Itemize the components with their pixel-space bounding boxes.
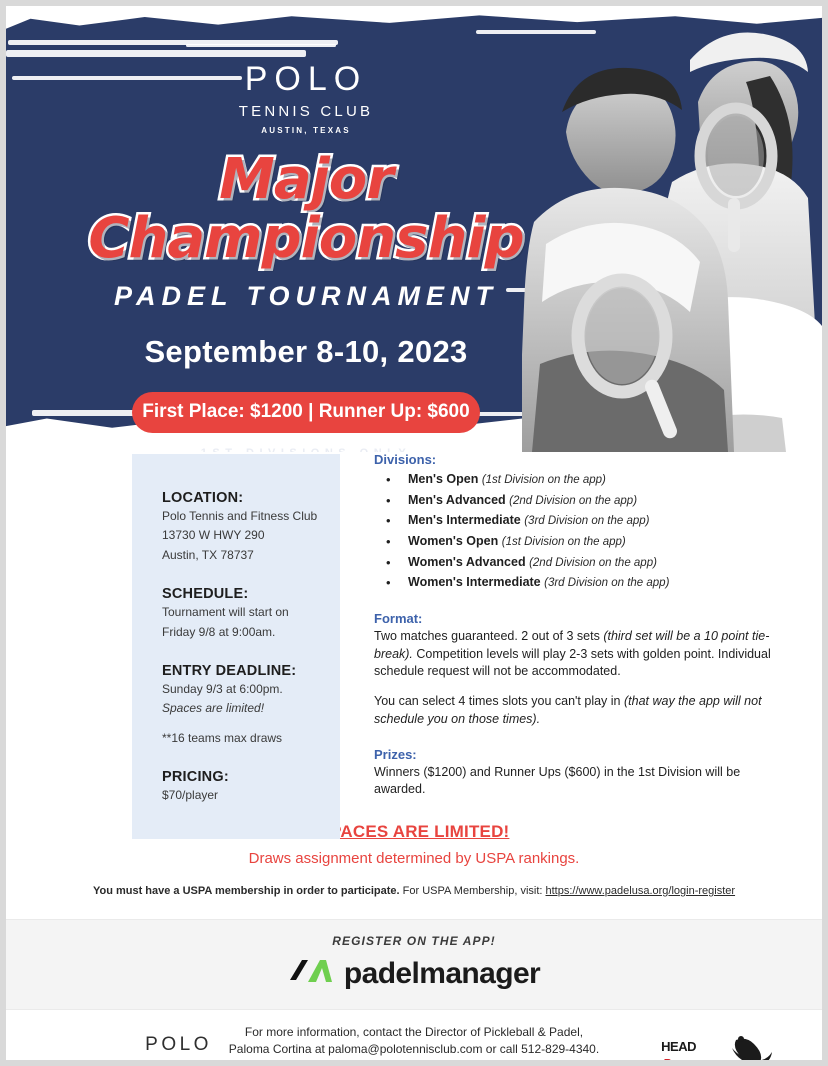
format-paragraph-2: You can select 4 times slots you can't p… xyxy=(374,693,774,729)
list-item: Women's Advanced (2nd Division on the ap… xyxy=(378,552,774,573)
details-section: LOCATION: Polo Tennis and Fitness Club 1… xyxy=(6,452,822,897)
right-column: Divisions: Men's Open (1st Division on t… xyxy=(374,452,774,799)
info-box: LOCATION: Polo Tennis and Fitness Club 1… xyxy=(132,454,340,839)
event-title: Major Championship xyxy=(6,151,606,269)
format-section: Format: Two matches guaranteed. 2 out of… xyxy=(374,611,774,729)
club-logo-header: POLO TENNIS CLUB AUSTIN, TEXAS xyxy=(6,6,606,135)
uspa-membership-line: You must have a USPA membership in order… xyxy=(6,885,822,897)
event-subtitle: PADEL TOURNAMENT xyxy=(6,281,606,312)
head-brand-name: HEAD xyxy=(661,1039,696,1054)
division-note: (2nd Division on the app) xyxy=(529,557,657,569)
event-date: September 8-10, 2023 xyxy=(6,334,606,370)
division-note: (3rd Division on the app) xyxy=(544,577,669,589)
register-band: REGISTER ON THE APP! padelmanager xyxy=(6,919,822,1010)
uspa-requirement-text: You must have a USPA membership in order… xyxy=(93,885,400,897)
pricing-heading: PRICING: xyxy=(162,769,318,785)
entry-deadline-note: **16 teams max draws xyxy=(162,730,318,747)
format-paragraph-1: Two matches guaranteed. 2 out of 3 sets … xyxy=(374,628,774,681)
divisions-only-note: 1ST DIVISIONS ONLY xyxy=(6,447,606,452)
hero-text-content: POLO TENNIS CLUB AUSTIN, TEXAS Major Cha… xyxy=(6,6,606,452)
prize-badge: First Place: $1200 | Runner Up: $600 xyxy=(132,392,480,433)
division-note: (2nd Division on the app) xyxy=(509,495,637,507)
location-heading: LOCATION: xyxy=(162,490,318,506)
prizes-text: Winners ($1200) and Runner Ups ($600) in… xyxy=(374,764,774,800)
uspa-membership-link[interactable]: https://www.padelusa.org/login-register xyxy=(546,885,736,897)
division-note: (1st Division on the app) xyxy=(482,474,606,486)
division-name: Men's Open xyxy=(408,472,478,486)
prizes-section: Prizes: Winners ($1200) and Runner Ups (… xyxy=(374,747,774,800)
cliff-drysdale-logo: CLIFF DRYSDALE TENNIS xyxy=(718,1034,786,1066)
club-logo-location: AUSTIN, TEXAS xyxy=(6,126,606,135)
spaces-limited-headline: SPACES ARE LIMITED! xyxy=(6,822,822,842)
pricing-value: $70/player xyxy=(162,787,318,804)
footer: POLO TENNIS CLUB AUSTIN, TEXAS For more … xyxy=(6,1010,822,1066)
list-item: Men's Open (1st Division on the app) xyxy=(378,469,774,490)
footer-club-type: TENNIS CLUB xyxy=(140,1059,217,1066)
padelmanager-mark-icon xyxy=(288,956,334,991)
format-text-b: Competition levels will play 2-3 sets wi… xyxy=(374,647,771,679)
club-logo-type: TENNIS CLUB xyxy=(6,103,606,120)
hero-banner: POLO TENNIS CLUB AUSTIN, TEXAS Major Cha… xyxy=(6,6,822,452)
spaces-limited-block: SPACES ARE LIMITED! Draws assignment det… xyxy=(6,822,822,867)
division-name: Women's Advanced xyxy=(408,555,526,569)
division-note: (1st Division on the app) xyxy=(502,536,626,548)
divisions-list: Men's Open (1st Division on the app) Men… xyxy=(378,469,774,593)
register-tagline: REGISTER ON THE APP! xyxy=(6,934,822,948)
list-item: Women's Intermediate (3rd Division on th… xyxy=(378,572,774,593)
uspa-visit-text: For USPA Membership, visit: xyxy=(400,885,546,897)
divisions-heading: Divisions: xyxy=(374,452,774,467)
entry-deadline-emphasis: Spaces are limited! xyxy=(162,700,318,717)
padelmanager-wordmark: padelmanager xyxy=(344,957,540,991)
schedule-line: Tournament will start on xyxy=(162,604,318,621)
padelmanager-logo[interactable]: padelmanager xyxy=(6,956,822,991)
division-name: Men's Advanced xyxy=(408,493,506,507)
club-logo-name: POLO xyxy=(6,62,606,96)
flyer-page: POLO TENNIS CLUB AUSTIN, TEXAS Major Cha… xyxy=(0,0,828,1066)
penn-brand-name: Penn xyxy=(661,1056,696,1066)
division-name: Women's Open xyxy=(408,534,498,548)
footer-club-logo: POLO TENNIS CLUB AUSTIN, TEXAS xyxy=(140,1034,217,1066)
entry-deadline-heading: ENTRY DEADLINE: xyxy=(162,663,318,679)
format-heading: Format: xyxy=(374,611,774,626)
footer-sponsor-logos: HEAD Penn CLIFF DRYSDALE TENNIS xyxy=(661,1034,786,1066)
entry-deadline-line: Sunday 9/3 at 6:00pm. xyxy=(162,681,318,698)
list-item: Men's Intermediate (3rd Division on the … xyxy=(378,510,774,531)
location-line: 13730 W HWY 290 xyxy=(162,527,318,544)
format-text-a: Two matches guaranteed. 2 out of 3 sets xyxy=(374,629,603,643)
location-line: Polo Tennis and Fitness Club xyxy=(162,508,318,525)
list-item: Men's Advanced (2nd Division on the app) xyxy=(378,490,774,511)
cliff-drysdale-mark-icon xyxy=(730,1051,774,1066)
division-name: Men's Intermediate xyxy=(408,513,521,527)
list-item: Women's Open (1st Division on the app) xyxy=(378,531,774,552)
division-name: Women's Intermediate xyxy=(408,575,541,589)
head-penn-logo: HEAD Penn xyxy=(661,1039,696,1066)
prizes-heading: Prizes: xyxy=(374,747,774,762)
format-slots-text: You can select 4 times slots you can't p… xyxy=(374,694,624,708)
location-line: Austin, TX 78737 xyxy=(162,547,318,564)
footer-club-name: POLO xyxy=(140,1034,217,1056)
division-note: (3rd Division on the app) xyxy=(524,515,649,527)
draws-assignment-note: Draws assignment determined by USPA rank… xyxy=(6,850,822,867)
schedule-line: Friday 9/8 at 9:00am. xyxy=(162,624,318,641)
schedule-heading: SCHEDULE: xyxy=(162,586,318,602)
